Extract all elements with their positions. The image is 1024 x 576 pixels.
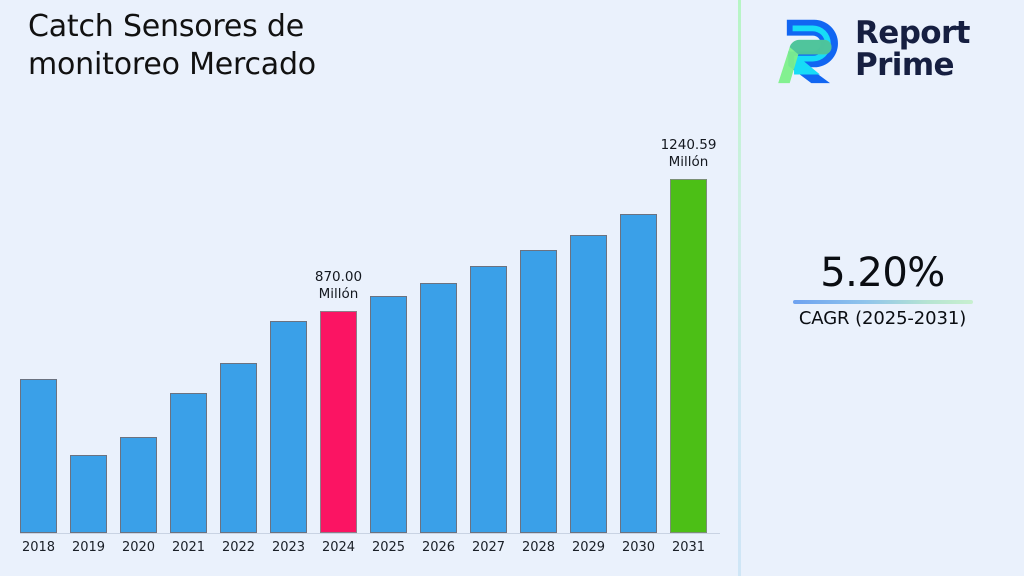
brand-panel: Report Prime 5.20% CAGR (2025-2031)	[741, 0, 1024, 576]
cagr-value: 5.20%	[741, 252, 1024, 294]
chart-infographic: Catch Sensores de monitoreo Mercado 870.…	[0, 0, 1024, 576]
bar-2030[interactable]	[620, 214, 657, 533]
bar-chart-plot: 870.00 Millón1240.59 Millón 201820192020…	[0, 0, 738, 576]
bar-2023[interactable]	[270, 321, 307, 533]
bar-2018[interactable]	[20, 379, 57, 533]
x-tick-label-2019: 2019	[62, 540, 115, 555]
x-tick-label-2031: 2031	[662, 540, 715, 555]
bar-2031[interactable]	[670, 179, 707, 533]
cagr-divider-rule	[793, 300, 973, 304]
x-tick-label-2025: 2025	[362, 540, 415, 555]
brand-logo: Report Prime	[771, 14, 970, 86]
x-tick-label-2023: 2023	[262, 540, 315, 555]
bar-2028[interactable]	[520, 250, 557, 533]
x-tick-label-2022: 2022	[212, 540, 265, 555]
x-tick-label-2028: 2028	[512, 540, 565, 555]
cagr-block: 5.20% CAGR (2025-2031)	[741, 252, 1024, 329]
bar-2024[interactable]	[320, 311, 357, 533]
bar-2020[interactable]	[120, 437, 157, 533]
bar-value-label-2024: 870.00 Millón	[294, 269, 383, 303]
x-tick-label-2018: 2018	[12, 540, 65, 555]
bar-2025[interactable]	[370, 296, 407, 533]
bar-2027[interactable]	[470, 266, 507, 533]
report-prime-logo-icon	[771, 14, 843, 86]
x-tick-label-2026: 2026	[412, 540, 465, 555]
x-tick-label-2021: 2021	[162, 540, 215, 555]
x-axis-line	[20, 533, 720, 534]
x-tick-label-2029: 2029	[562, 540, 615, 555]
bar-2021[interactable]	[170, 393, 207, 533]
x-tick-label-2027: 2027	[462, 540, 515, 555]
x-tick-label-2030: 2030	[612, 540, 665, 555]
bar-2026[interactable]	[420, 283, 457, 533]
bar-2029[interactable]	[570, 235, 607, 533]
bar-2022[interactable]	[220, 363, 257, 533]
cagr-caption: CAGR (2025-2031)	[741, 308, 1024, 329]
chart-panel: Catch Sensores de monitoreo Mercado 870.…	[0, 0, 738, 576]
brand-name: Report Prime	[855, 18, 970, 81]
bar-value-label-2031: 1240.59 Millón	[644, 137, 733, 171]
bar-2019[interactable]	[70, 455, 107, 533]
x-tick-label-2024: 2024	[312, 540, 365, 555]
x-tick-label-2020: 2020	[112, 540, 165, 555]
